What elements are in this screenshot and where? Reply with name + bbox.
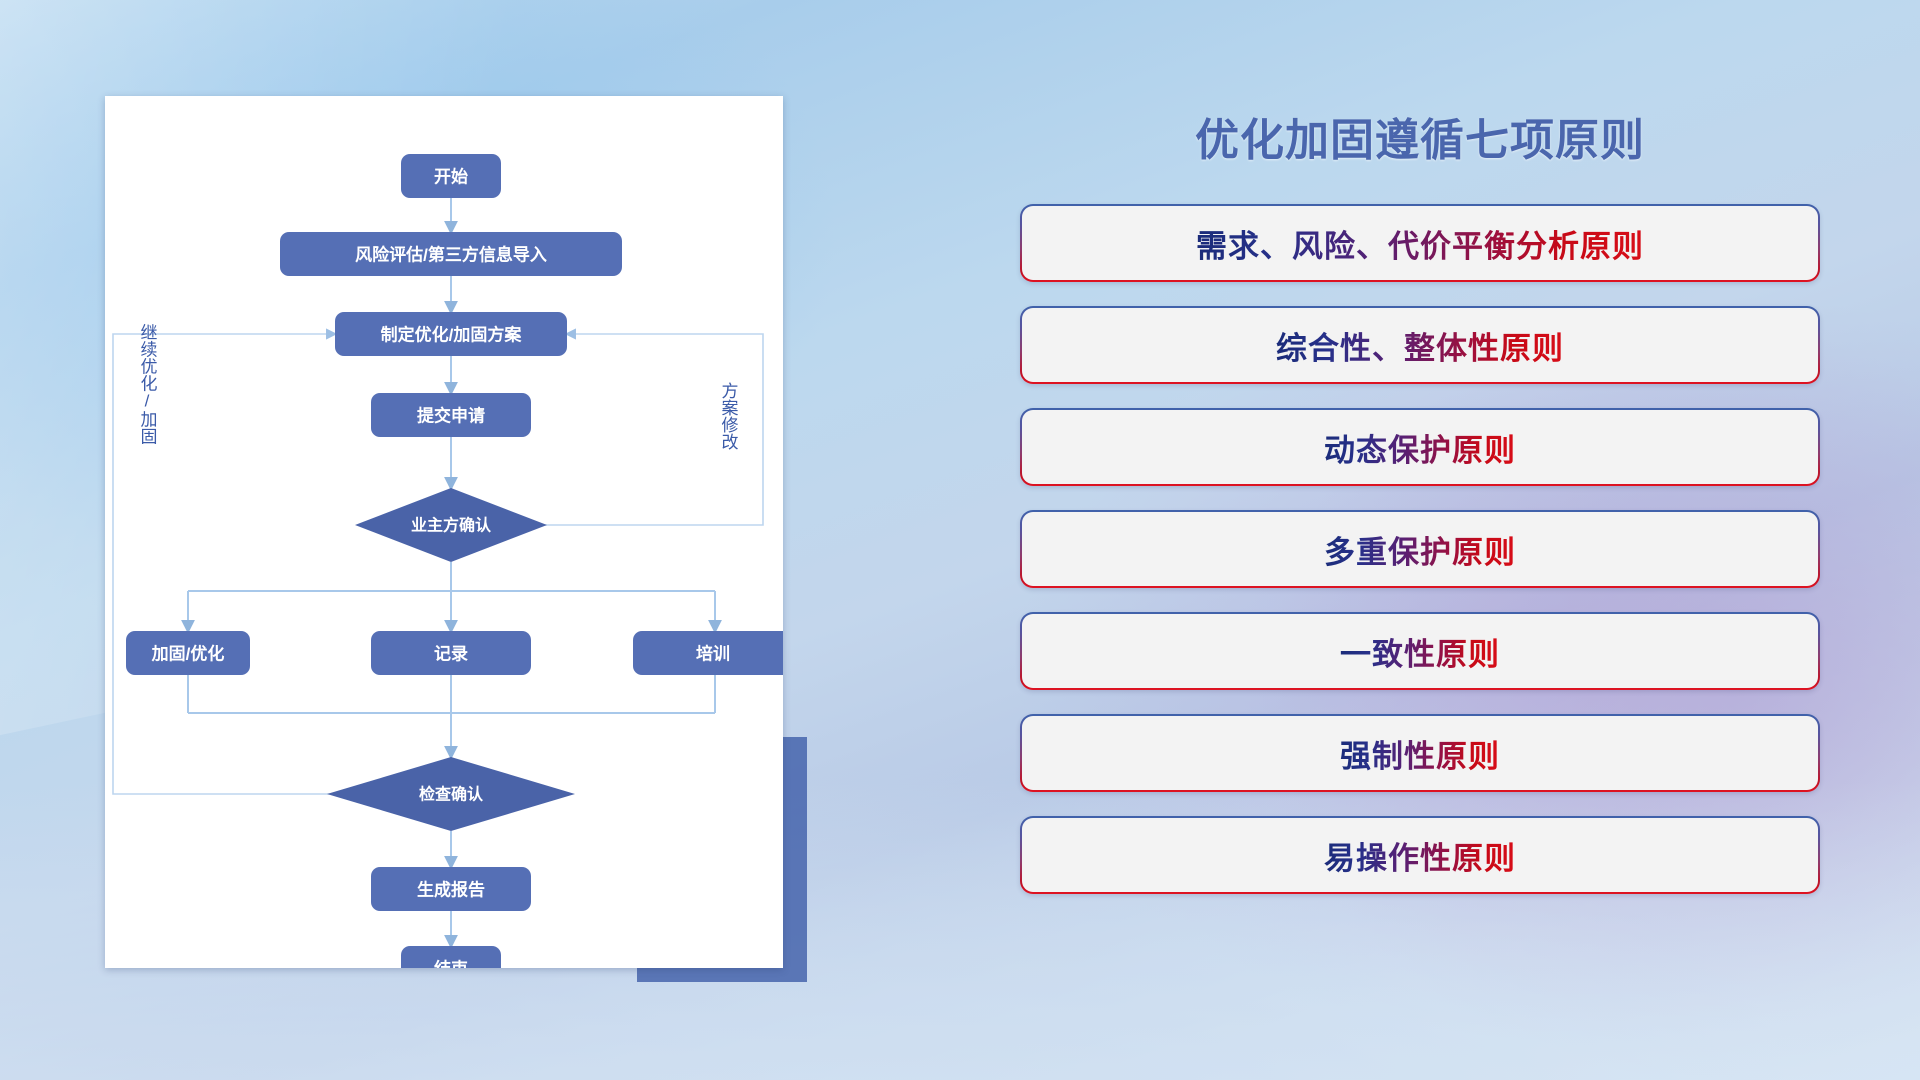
principle-card[interactable]: 综合性、整体性原则 (1020, 306, 1820, 384)
loop-label-right: 方案修改 (719, 382, 739, 450)
principle-card-inner: 需求、风险、代价平衡分析原则 (1022, 206, 1818, 280)
node-plan[interactable]: 制定优化/加固方案 (335, 312, 567, 356)
node-start-label: 开始 (434, 167, 468, 187)
principle-label: 易操作性原则 (1324, 833, 1516, 878)
principle-card[interactable]: 易操作性原则 (1020, 816, 1820, 894)
node-plan-label: 制定优化/加固方案 (381, 325, 523, 345)
principles-card-list: 需求、风险、代价平衡分析原则 综合性、整体性原则 动态保护原则 多重保护原则 (1020, 204, 1820, 894)
principle-card[interactable]: 一致性原则 (1020, 612, 1820, 690)
principle-card-inner: 多重保护原则 (1022, 512, 1818, 586)
principle-card-inner: 易操作性原则 (1022, 818, 1818, 892)
principle-card-inner: 动态保护原则 (1022, 410, 1818, 484)
node-end[interactable]: 结束 (401, 946, 501, 968)
node-training[interactable]: 培训 (633, 631, 783, 675)
principle-label: 一致性原则 (1340, 629, 1500, 674)
node-submit-label: 提交申请 (417, 406, 485, 426)
flowchart-svg: 继续优化/加固 方案修改 开始 风险评估/第三方信息导入 制定优化/加固方案 提… (105, 96, 783, 968)
principle-label: 多重保护原则 (1324, 527, 1516, 572)
node-owner-label: 业主方确认 (411, 516, 492, 535)
principle-card[interactable]: 强制性原则 (1020, 714, 1820, 792)
node-report[interactable]: 生成报告 (371, 867, 531, 911)
node-check-label: 检查确认 (419, 785, 484, 804)
node-check-confirm[interactable]: 检查确认 (327, 757, 575, 831)
node-reinforce[interactable]: 加固/优化 (126, 631, 250, 675)
node-owner-confirm[interactable]: 业主方确认 (355, 488, 547, 562)
principle-card-inner: 综合性、整体性原则 (1022, 308, 1818, 382)
principle-card-inner: 强制性原则 (1022, 716, 1818, 790)
node-training-label: 培训 (696, 644, 730, 664)
flowchart-card: 继续优化/加固 方案修改 开始 风险评估/第三方信息导入 制定优化/加固方案 提… (105, 96, 783, 968)
principle-card[interactable]: 需求、风险、代价平衡分析原则 (1020, 204, 1820, 282)
loop-label-left: 继续优化/加固 (138, 323, 158, 444)
node-record[interactable]: 记录 (371, 631, 531, 675)
node-report-label: 生成报告 (417, 880, 485, 900)
node-start[interactable]: 开始 (401, 154, 501, 198)
principle-card[interactable]: 动态保护原则 (1020, 408, 1820, 486)
principle-label: 强制性原则 (1340, 731, 1500, 776)
slide-root: 继续优化/加固 方案修改 开始 风险评估/第三方信息导入 制定优化/加固方案 提… (0, 0, 1920, 1080)
node-reinforce-label: 加固/优化 (151, 644, 225, 664)
node-risk-assessment[interactable]: 风险评估/第三方信息导入 (280, 232, 622, 276)
principle-label: 综合性、整体性原则 (1276, 323, 1564, 368)
node-record-label: 记录 (434, 645, 468, 664)
principle-card[interactable]: 多重保护原则 (1020, 510, 1820, 588)
flow-edges (188, 198, 715, 946)
principle-card-inner: 一致性原则 (1022, 614, 1818, 688)
principle-label: 需求、风险、代价平衡分析原则 (1196, 221, 1644, 266)
principles-title: 优化加固遵循七项原则 (1020, 104, 1820, 168)
principles-panel: 优化加固遵循七项原则 需求、风险、代价平衡分析原则 综合性、整体性原则 动态保护… (1020, 104, 1835, 894)
node-submit[interactable]: 提交申请 (371, 393, 531, 437)
node-end-label: 结束 (434, 959, 468, 969)
node-risk-label: 风险评估/第三方信息导入 (355, 245, 547, 265)
principle-label: 动态保护原则 (1324, 425, 1516, 470)
